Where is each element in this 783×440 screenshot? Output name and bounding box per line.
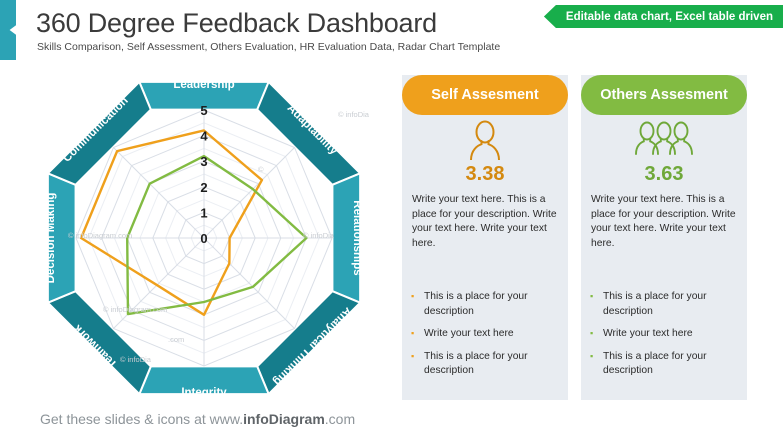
radar-series bbox=[81, 130, 306, 314]
footer-brand: infoDiagram bbox=[243, 411, 325, 427]
watermark: © infoDia bbox=[338, 110, 370, 119]
watermark: © infoDiagram.com bbox=[68, 231, 132, 240]
watermark: © infoDiagram.com bbox=[103, 305, 167, 314]
list-item: This is a place for your description bbox=[589, 350, 741, 379]
card-others-assessment: Others Assesment 3.63 Write your text he… bbox=[581, 75, 747, 400]
radar-chart-svg: 012345 LeadershipAdaptabilityRelationshi… bbox=[8, 62, 398, 407]
editable-chart-ribbon: Editable data chart, Excel table driven bbox=[544, 5, 783, 28]
footer-suffix: .com bbox=[325, 411, 355, 427]
tick-label-2: 2 bbox=[200, 180, 207, 195]
header: 360 Degree Feedback Dashboard Skills Com… bbox=[0, 0, 783, 62]
watermark: © bbox=[258, 165, 264, 174]
watermark: © infoDia bbox=[303, 231, 335, 240]
list-item: Write your text here bbox=[589, 327, 741, 342]
card-self-score: 3.38 bbox=[402, 163, 568, 186]
category-label-decision-making: Decision Making bbox=[45, 193, 57, 284]
card-self-assessment: Self Assesment 3.38 Write your text here… bbox=[402, 75, 568, 400]
list-item: This is a place for your description bbox=[410, 290, 562, 319]
category-label-integrity: Integrity bbox=[181, 387, 227, 399]
category-label-relationships: Relationships bbox=[351, 200, 363, 275]
watermark: © infoDia bbox=[120, 355, 152, 364]
tick-label-3: 3 bbox=[200, 154, 207, 169]
page-title: 360 Degree Feedback Dashboard bbox=[36, 8, 437, 39]
page-subtitle: Skills Comparison, Self Assessment, Othe… bbox=[37, 41, 500, 53]
card-others-paragraph: Write your text here. This is a place fo… bbox=[591, 193, 737, 251]
single-person-icon bbox=[402, 119, 568, 161]
footer: Get these slides & icons at www.infoDiag… bbox=[40, 411, 355, 427]
tick-label-1: 1 bbox=[200, 205, 207, 220]
card-self-paragraph: Write your text here. This is a place fo… bbox=[412, 193, 558, 251]
card-others-bullet-list: This is a place for your description Wri… bbox=[589, 290, 741, 387]
card-self-title: Self Assesment bbox=[402, 75, 568, 115]
tick-label-0: 0 bbox=[200, 231, 207, 246]
tick-label-4: 4 bbox=[200, 129, 208, 144]
group-people-icon bbox=[581, 119, 747, 161]
tick-label-5: 5 bbox=[200, 103, 207, 118]
footer-prefix: Get these slides & icons at www. bbox=[40, 411, 243, 427]
card-self-bullet-list: This is a place for your description Wri… bbox=[410, 290, 562, 387]
list-item: This is a place for your description bbox=[410, 350, 562, 379]
list-item: This is a place for your description bbox=[589, 290, 741, 319]
card-others-title: Others Assesment bbox=[581, 75, 747, 115]
category-label-leadership: Leadership bbox=[173, 79, 234, 91]
card-others-score: 3.63 bbox=[581, 163, 747, 186]
radar-chart-panel: 012345 LeadershipAdaptabilityRelationshi… bbox=[8, 62, 398, 407]
list-item: Write your text here bbox=[410, 327, 562, 342]
watermark: .com bbox=[168, 335, 184, 344]
